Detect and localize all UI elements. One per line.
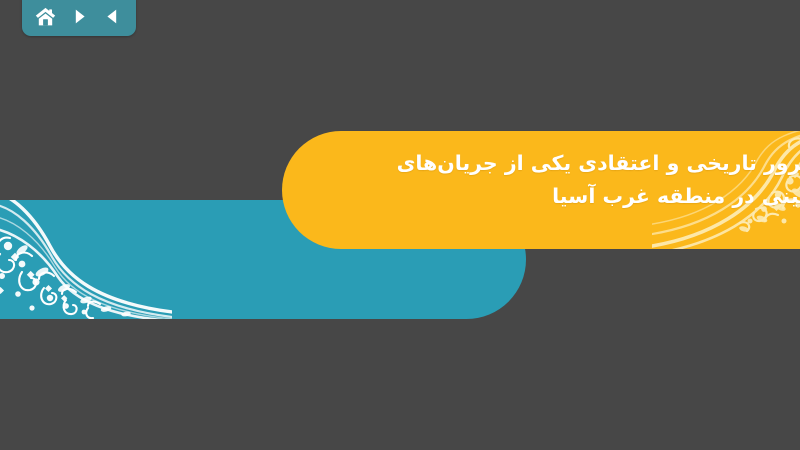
navigation-bar xyxy=(22,0,136,36)
title-line-1: مرور تاریخی و اعتقادی یکی از جریان‌های xyxy=(342,147,800,180)
arabesque-ornament-teal xyxy=(0,200,172,319)
title-line-2: آیینی در منطقه غرب آسیا xyxy=(342,180,800,213)
orange-banner: مرور تاریخی و اعتقادی یکی از جریان‌های آ… xyxy=(282,131,800,249)
page-title: مرور تاریخی و اعتقادی یکی از جریان‌های آ… xyxy=(342,147,800,213)
forward-button[interactable] xyxy=(65,3,93,29)
home-icon xyxy=(35,6,56,27)
slide-canvas: مرور تاریخی و اعتقادی یکی از جریان‌های آ… xyxy=(0,0,800,450)
back-icon xyxy=(103,7,122,26)
forward-icon xyxy=(70,7,89,26)
home-button[interactable] xyxy=(32,3,60,29)
back-button[interactable] xyxy=(98,3,126,29)
